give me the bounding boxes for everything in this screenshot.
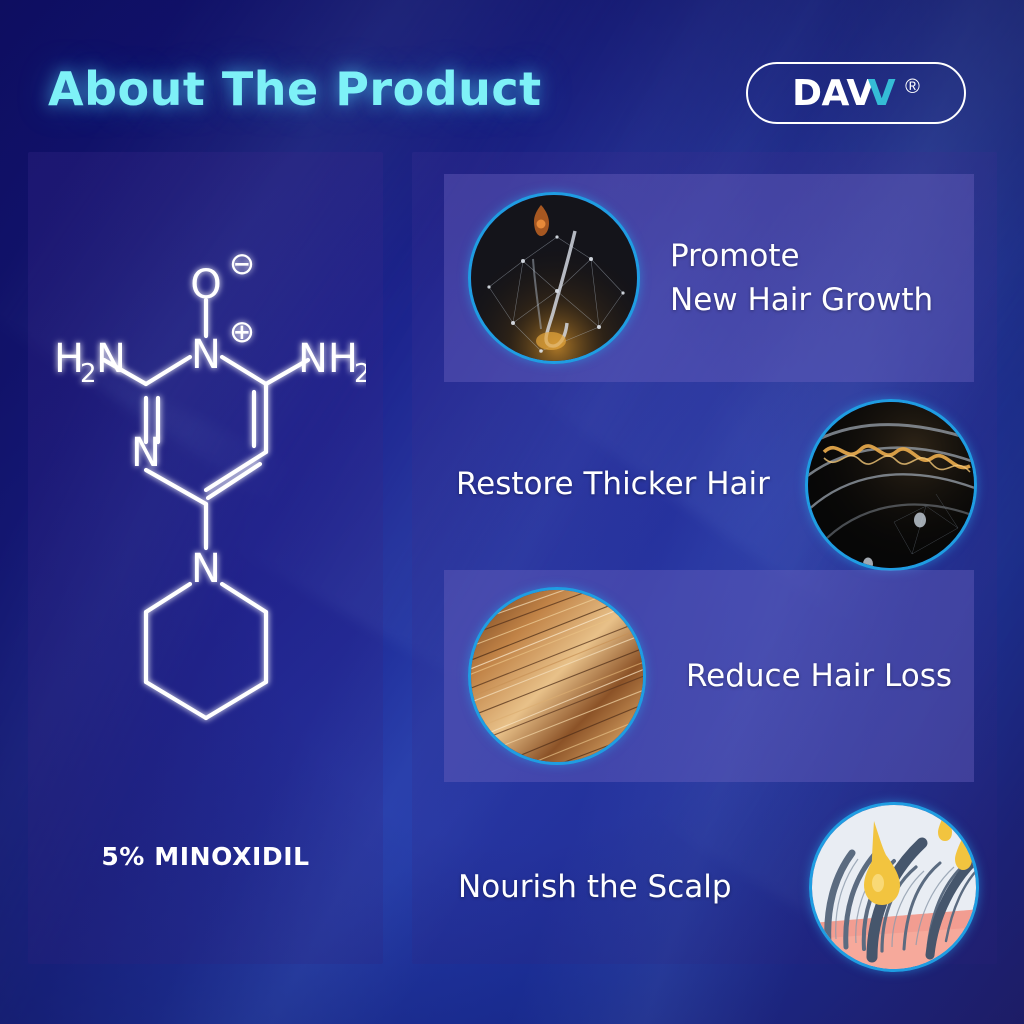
svg-text:2: 2	[354, 359, 366, 389]
svg-text:N: N	[131, 430, 161, 476]
feature-card-label: Reduce Hair Loss	[686, 654, 952, 698]
feature-card-label: Restore Thicker Hair	[456, 462, 787, 506]
svg-text:⊕: ⊕	[229, 314, 255, 350]
feature-card-nourish-the-scalp[interactable]: Nourish the Scalp	[434, 792, 979, 982]
right-panel: Promote New Hair Growth	[412, 152, 997, 964]
left-panel: O ⊖ N ⊕ N N H 2 N NH 2 5% MINOXIDIL	[28, 152, 383, 964]
header: About The Product DAVV ®	[0, 0, 1024, 150]
registered-trademark-icon: ®	[905, 76, 920, 99]
brown-hair-closeup-image	[468, 587, 646, 765]
feature-card-label: Nourish the Scalp	[458, 865, 799, 909]
svg-text:N: N	[96, 336, 126, 382]
feature-card-restore-thicker-hair[interactable]: Restore Thicker Hair	[432, 392, 977, 577]
feature-card-reduce-hair-loss[interactable]: Reduce Hair Loss	[444, 570, 974, 782]
feature-card-promote-new-hair-growth[interactable]: Promote New Hair Growth	[444, 174, 974, 382]
logo-text-dav: DAV	[792, 73, 874, 114]
logo-check-icon: V	[868, 73, 895, 114]
svg-text:⊖: ⊖	[229, 246, 255, 282]
svg-text:N: N	[191, 332, 221, 378]
feature-card-label: Promote New Hair Growth	[670, 234, 933, 322]
product-concentration-label: 5% MINOXIDIL	[28, 842, 383, 871]
svg-text:2: 2	[80, 359, 97, 389]
brand-logo: DAVV ®	[746, 62, 966, 124]
hair-follicle-network-image	[468, 192, 640, 364]
svg-text:NH: NH	[298, 336, 358, 382]
logo-wordmark: DAVV	[792, 73, 895, 114]
minoxidil-molecule-diagram: O ⊖ N ⊕ N N H 2 N NH 2	[46, 202, 366, 822]
scalp-oil-droplet-image	[809, 802, 979, 972]
feature-line-2: New Hair Growth	[670, 278, 933, 322]
svg-text:O: O	[190, 262, 221, 308]
golden-hair-strands-image	[805, 399, 977, 571]
feature-line-1: Promote	[670, 234, 933, 278]
svg-text:N: N	[191, 546, 221, 592]
page-title: About The Product	[48, 62, 542, 116]
